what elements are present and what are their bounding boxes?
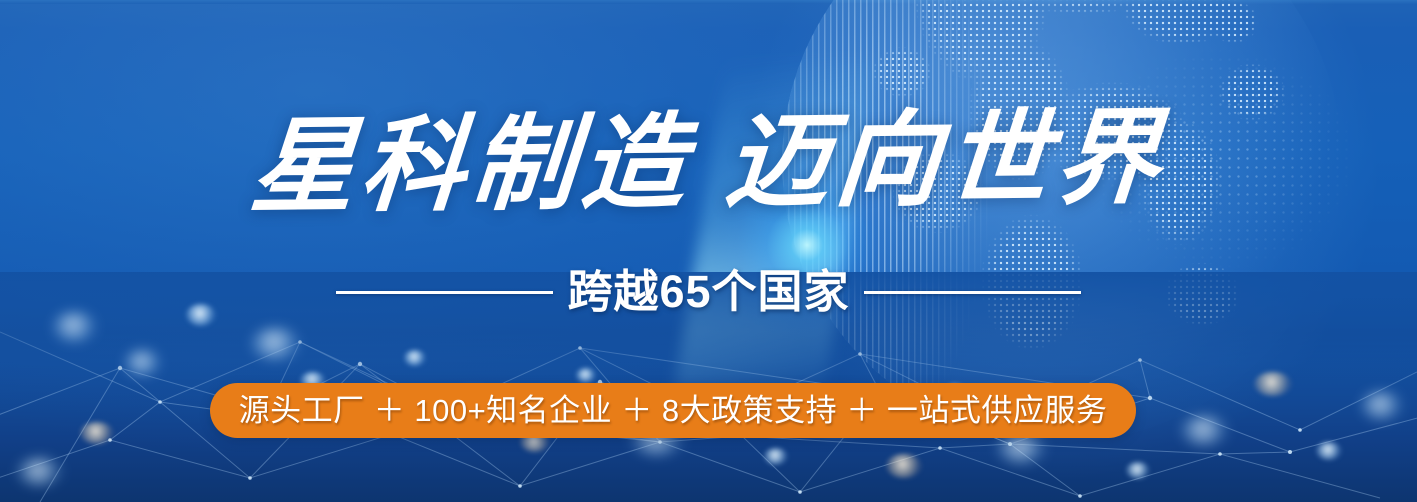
highlight-pill-text: 源头工厂 ＋ 100+知名企业 ＋ 8大政策支持 ＋ 一站式供应服务 xyxy=(239,394,1108,428)
rule-right-icon xyxy=(864,291,1081,294)
banner-subtitle: 跨越65个国家 xyxy=(553,262,863,322)
banner-subtitle-row: 跨越65个国家 xyxy=(0,262,1417,322)
banner-content: 星科制造迈向世界 跨越65个国家 源头工厂 ＋ 100+知名企业 ＋ 8大政策支… xyxy=(0,0,1417,502)
title-part-1: 星科制造 xyxy=(246,100,696,228)
banner-title: 星科制造迈向世界 xyxy=(0,99,1417,226)
rule-left-icon xyxy=(336,291,553,294)
title-part-2: 迈向世界 xyxy=(721,95,1171,223)
promo-banner: 星科制造迈向世界 跨越65个国家 源头工厂 ＋ 100+知名企业 ＋ 8大政策支… xyxy=(0,0,1417,502)
highlight-pill[interactable]: 源头工厂 ＋ 100+知名企业 ＋ 8大政策支持 ＋ 一站式供应服务 xyxy=(210,383,1136,438)
